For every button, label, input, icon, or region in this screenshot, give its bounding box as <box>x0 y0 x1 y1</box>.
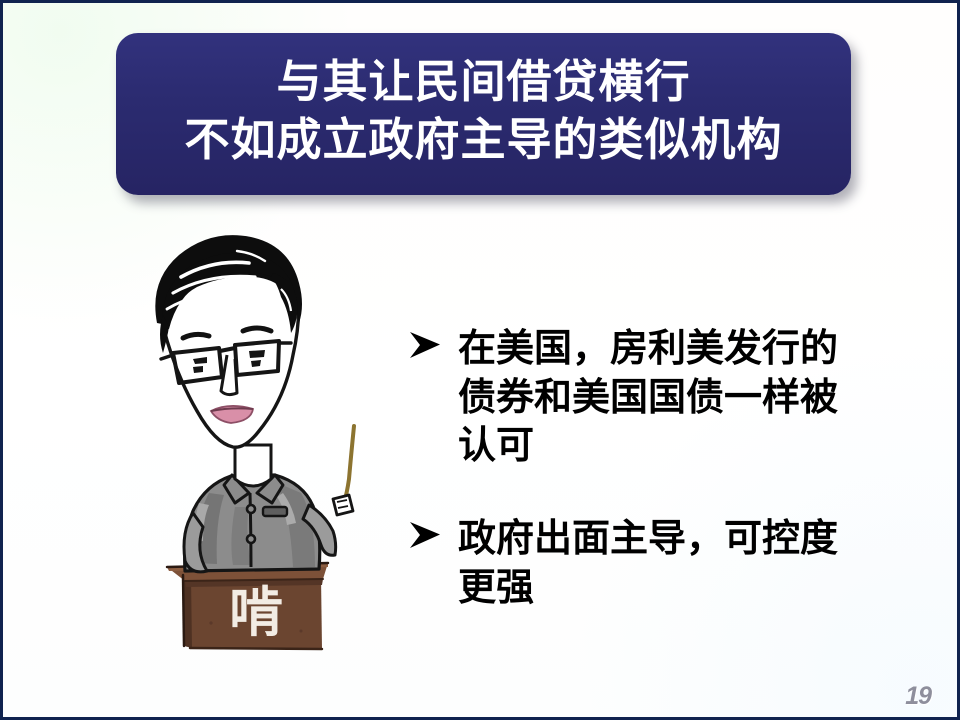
slide-title-plate: 与其让民间借贷横行 不如成立政府主导的类似机构 <box>116 33 851 195</box>
podium-label: 啃 <box>229 581 283 644</box>
bullet-item: 政府出面主导，可控度更强 <box>408 515 863 612</box>
bullet-text: 在美国，房利美发行的债券和美国国债一样被认可 <box>458 325 863 471</box>
pointer-stick-icon <box>344 426 354 503</box>
slide: 与其让民间借贷横行 不如成立政府主导的类似机构 <box>0 0 960 720</box>
presenter-body <box>184 475 353 572</box>
presenter-neck <box>235 445 271 486</box>
bullet-text: 政府出面主导，可控度更强 <box>458 515 863 612</box>
slide-title-line-1: 与其让民间借贷横行 <box>276 53 690 112</box>
arrowhead-bullet-icon <box>408 325 458 361</box>
arrowhead-bullet-icon <box>408 515 458 551</box>
presenter-head <box>155 235 302 447</box>
page-number: 19 <box>905 682 931 711</box>
slide-title-line-2: 不如成立政府主导的类似机构 <box>184 111 782 170</box>
bullet-list: 在美国，房利美发行的债券和美国国债一样被认可 政府出面主导，可控度更强 <box>408 325 863 612</box>
bullet-item: 在美国，房利美发行的债券和美国国债一样被认可 <box>408 325 863 471</box>
presenter-illustration: 啃 <box>123 231 408 656</box>
